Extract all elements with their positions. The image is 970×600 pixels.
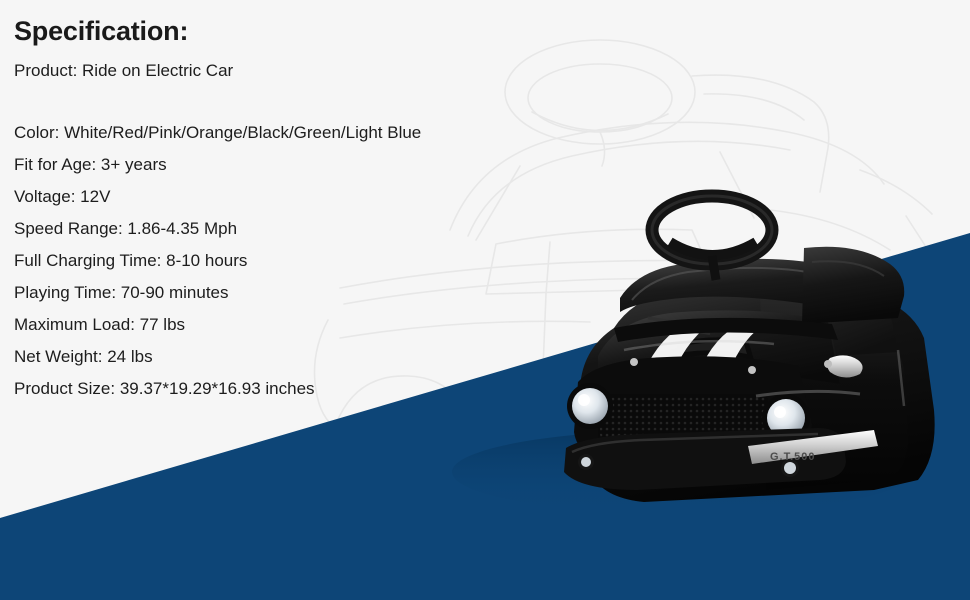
car-seat [802, 247, 904, 324]
spec-row: Product Size: 39.37*19.29*16.93 inches [14, 373, 614, 405]
page-title: Specification: [14, 0, 614, 45]
rocker-badge-text: G.T.500 [770, 451, 816, 463]
hood-pin-right [748, 366, 756, 374]
specification-text-block: Specification: Product: Ride on Electric… [14, 0, 614, 405]
product-name-line: Product: Ride on Electric Car [14, 45, 614, 79]
fog-light-left [578, 454, 594, 470]
spec-row: Fit for Age: 3+ years [14, 149, 614, 181]
spec-row: Speed Range: 1.86-4.35 Mph [14, 213, 614, 245]
spec-row: Net Weight: 24 lbs [14, 341, 614, 373]
specification-list: Color: White/Red/Pink/Orange/Black/Green… [14, 79, 614, 405]
specification-banner: G.T.500 Specification: Product: Ride on … [0, 0, 970, 600]
spec-row: Color: White/Red/Pink/Orange/Black/Green… [14, 117, 614, 149]
spec-row: Voltage: 12V [14, 181, 614, 213]
spec-row: Maximum Load: 77 lbs [14, 309, 614, 341]
hood-pin-left [630, 358, 638, 366]
spec-row: Playing Time: 70-90 minutes [14, 277, 614, 309]
spec-row: Full Charging Time: 8-10 hours [14, 245, 614, 277]
